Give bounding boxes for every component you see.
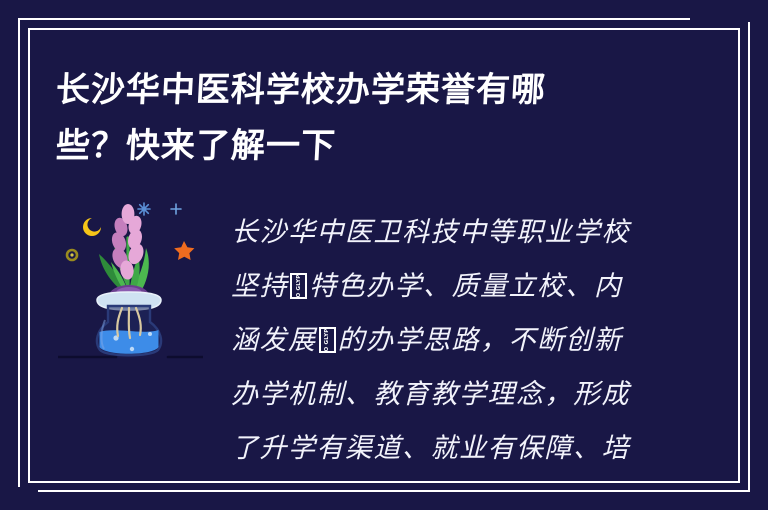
body-segment: 涵发展 [231,325,317,356]
body-segment: 办学机制、教育教学理念，形成 [231,379,630,410]
body-line-2: 坚持NO GLYPH特色办学、质量立校、内 [231,260,663,314]
body-segment: 了升学有渠道、就业有保障、培 [231,433,630,464]
poster-canvas: 长沙华中医科学校办学荣誉有哪 些？快来了解一下 [0,0,768,510]
poster-body-text: 长沙华中医卫科技中等职业学校 坚持NO GLYPH特色办学、质量立校、内 涵发展… [231,206,663,476]
body-line-3: 涵发展NO GLYPH的办学思路，不断创新 [231,314,663,368]
body-line-1: 长沙华中医卫科技中等职业学校 [231,206,663,260]
title-line-2: 些？快来了解一下 [55,118,678,174]
body-line-4: 办学机制、教育教学理念，形成 [231,368,663,422]
missing-glyph-box: NO GLYPH [290,273,307,299]
missing-glyph-label: NO GLYPH [296,273,302,299]
glass-vase [97,292,161,355]
body-segment: 长沙华中医卫科技中等职业学校 [231,217,630,248]
plus-accent [171,204,181,214]
snowflake-accent [138,203,150,215]
hyacinth-illustration [58,196,203,371]
star-accent [174,241,194,260]
body-segment: 坚持 [231,271,288,302]
body-segment: 的办学思路，不断创新 [338,325,623,356]
frame-mask-bottom-left [8,487,38,503]
poster-title: 长沙华中医科学校办学荣誉有哪 些？快来了解一下 [56,62,676,174]
missing-glyph-label: NO GLYPH [324,327,330,353]
ring-accent [67,250,77,260]
body-line-5: 了升学有渠道、就业有保障、培 [231,422,663,476]
title-line-1: 长沙华中医科学校办学荣誉有哪 [55,62,678,118]
missing-glyph-box: NO GLYPH [319,327,336,353]
moon-accent [83,218,101,236]
body-segment: 特色办学、质量立校、内 [309,271,623,302]
frame-mask-top-right [690,10,760,22]
